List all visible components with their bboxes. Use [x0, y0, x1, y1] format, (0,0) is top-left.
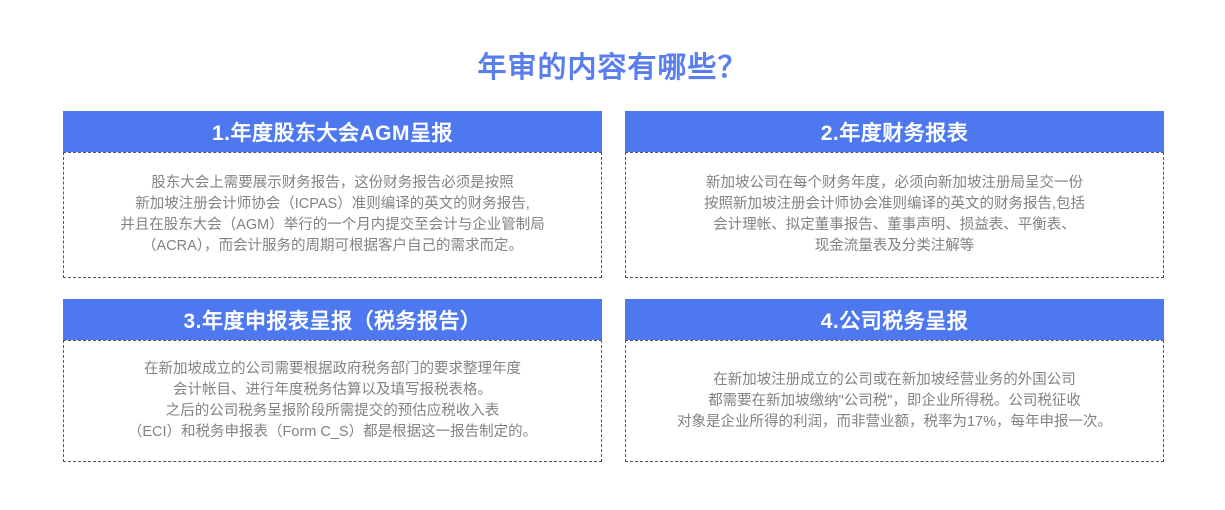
card-annual-financial-statements: 2.年度财务报表 新加坡公司在每个财务年度，必须向新加坡注册局呈交一份 按照新加…: [625, 111, 1164, 278]
card-body-text-3: 在新加坡成立的公司需要根据政府税务部门的要求整理年度 会计帐目、进行年度税务估算…: [128, 359, 537, 443]
card-body-text-4: 在新加坡注册成立的公司或在新加坡经营业务的外国公司 都需要在新加坡缴纳"公司税"…: [677, 370, 1112, 433]
card-annual-return-tax-report: 3.年度申报表呈报（税务报告） 在新加坡成立的公司需要根据政府税务部门的要求整理…: [63, 299, 602, 462]
card-body-2: 新加坡公司在每个财务年度，必须向新加坡注册局呈交一份 按照新加坡注册会计师协会准…: [625, 152, 1164, 278]
card-body-1: 股东大会上需要展示财务报告，这份财务报告必须是按照 新加坡注册会计师协会（ICP…: [63, 152, 602, 278]
card-annual-general-meeting: 1.年度股东大会AGM呈报 股东大会上需要展示财务报告，这份财务报告必须是按照 …: [63, 111, 602, 278]
card-grid: 1.年度股东大会AGM呈报 股东大会上需要展示财务报告，这份财务报告必须是按照 …: [63, 111, 1162, 463]
card-body-text-2: 新加坡公司在每个财务年度，必须向新加坡注册局呈交一份 按照新加坡注册会计师协会准…: [704, 173, 1085, 257]
card-body-text-1: 股东大会上需要展示财务报告，这份财务报告必须是按照 新加坡注册会计师协会（ICP…: [120, 173, 545, 257]
infographic-page: 年审的内容有哪些？ 1.年度股东大会AGM呈报 股东大会上需要展示财务报告，这份…: [0, 0, 1225, 510]
card-body-4: 在新加坡注册成立的公司或在新加坡经营业务的外国公司 都需要在新加坡缴纳"公司税"…: [625, 340, 1164, 462]
page-title: 年审的内容有哪些？: [0, 44, 1225, 86]
card-header-2: 2.年度财务报表: [625, 111, 1164, 152]
card-corporate-tax-filing: 4.公司税务呈报 在新加坡注册成立的公司或在新加坡经营业务的外国公司 都需要在新…: [625, 299, 1164, 462]
card-header-1: 1.年度股东大会AGM呈报: [63, 111, 602, 152]
card-header-4: 4.公司税务呈报: [625, 299, 1164, 340]
card-header-3: 3.年度申报表呈报（税务报告）: [63, 299, 602, 340]
card-body-3: 在新加坡成立的公司需要根据政府税务部门的要求整理年度 会计帐目、进行年度税务估算…: [63, 340, 602, 462]
